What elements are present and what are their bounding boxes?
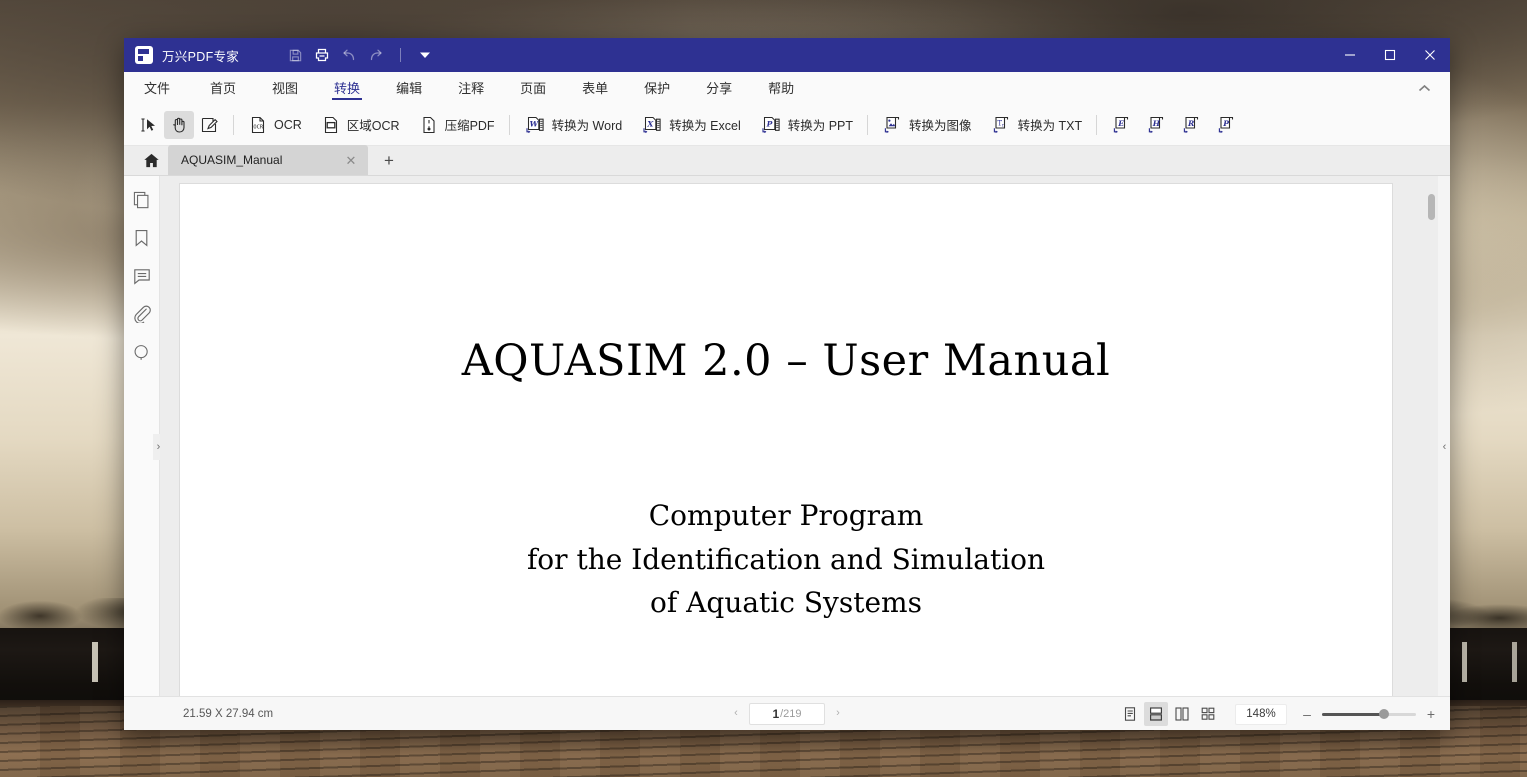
view-mode-two-page[interactable] <box>1170 702 1194 726</box>
next-page-button[interactable]: › <box>829 704 847 724</box>
sidebar-item-attachments[interactable] <box>129 302 155 326</box>
new-tab-button[interactable]: + <box>376 145 402 175</box>
zoom-in-button[interactable]: + <box>1422 704 1440 724</box>
menu-item-page[interactable]: 页面 <box>502 72 564 103</box>
convert-to-excel-button[interactable]: X 转换为 Excel <box>636 111 746 139</box>
compress-pdf-icon <box>419 115 439 135</box>
svg-text:W: W <box>529 119 539 128</box>
minimize-icon[interactable] <box>1330 38 1370 72</box>
hand-icon <box>169 115 189 135</box>
svg-text:H: H <box>1152 119 1161 128</box>
ocr-label: OCR <box>274 118 302 132</box>
pages-convert-icon: P <box>1216 115 1237 135</box>
pdf-application-window: 万兴PDF专家 <box>124 38 1450 730</box>
undo-button[interactable] <box>337 43 361 67</box>
menu-item-help[interactable]: 帮助 <box>750 72 812 103</box>
convert-to-epub-button[interactable]: E <box>1106 111 1137 139</box>
view-mode-continuous[interactable] <box>1144 702 1168 726</box>
zoom-slider[interactable] <box>1322 704 1416 724</box>
title-bar: 万兴PDF专家 <box>124 38 1450 72</box>
sidebar-item-bookmarks[interactable] <box>129 226 155 250</box>
quick-access-more-button[interactable] <box>413 43 437 67</box>
subtitle-line-1: Computer Program <box>527 494 1045 538</box>
zoom-level-value[interactable]: 148% <box>1235 704 1287 725</box>
app-title: 万兴PDF专家 <box>162 46 239 65</box>
view-mode-single-page[interactable] <box>1118 702 1142 726</box>
toolbar-divider-4 <box>1096 115 1097 135</box>
ppt-convert-icon: P <box>760 115 782 135</box>
ocr-document-icon: OCR <box>248 115 268 135</box>
hand-tool[interactable] <box>164 111 194 139</box>
excel-convert-icon: X <box>641 115 663 135</box>
svg-text:P: P <box>1222 119 1229 128</box>
sidebar-item-stamps[interactable] <box>129 340 155 364</box>
rtf-convert-icon: R <box>1181 115 1202 135</box>
document-tab-label: AQUASIM_Manual <box>181 153 326 167</box>
menu-item-edit[interactable]: 编辑 <box>378 72 440 103</box>
convert-to-ppt-button[interactable]: P 转换为 PPT <box>755 111 858 139</box>
subtitle-line-2: for the Identification and Simulation <box>527 538 1045 582</box>
view-controls: 148% – + <box>1118 697 1440 730</box>
text-cursor-arrow-icon <box>139 115 159 135</box>
previous-page-button[interactable]: ‹ <box>727 704 745 724</box>
quick-access-toolbar <box>283 43 437 67</box>
total-pages-label: /219 <box>780 708 801 720</box>
convert-to-html-button[interactable]: H <box>1141 111 1172 139</box>
window-controls <box>1330 38 1450 72</box>
document-title: AQUASIM 2.0 – User Manual <box>462 336 1111 386</box>
convert-to-word-button[interactable]: W 转换为 Word <box>519 111 628 139</box>
page-size-label: 21.59 X 27.94 cm <box>183 708 273 720</box>
document-tab[interactable]: AQUASIM_Manual ✕ <box>168 145 368 175</box>
svg-text:P: P <box>765 119 772 128</box>
main-body: › AQUASIM 2.0 – User Manual Computer Pro… <box>124 176 1450 696</box>
tab-strip: AQUASIM_Manual ✕ + <box>124 146 1450 176</box>
menu-item-share[interactable]: 分享 <box>688 72 750 103</box>
zoom-out-button[interactable]: – <box>1298 704 1316 724</box>
menu-bar: 文件 首页 视图 转换 编辑 注释 页面 表单 保护 分享 帮助 <box>124 72 1450 104</box>
maximize-icon[interactable] <box>1370 38 1410 72</box>
menu-item-file[interactable]: 文件 <box>124 72 192 103</box>
menu-item-comment[interactable]: 注释 <box>440 72 502 103</box>
document-viewer[interactable]: AQUASIM 2.0 – User Manual Computer Progr… <box>160 176 1438 696</box>
left-sidebar: › <box>124 176 160 696</box>
print-button[interactable] <box>310 43 334 67</box>
svg-text:X: X <box>647 119 655 128</box>
svg-text:E: E <box>1117 119 1124 128</box>
area-ocr-label: 区域OCR <box>347 115 400 134</box>
close-icon[interactable]: ✕ <box>342 151 360 169</box>
select-tool[interactable] <box>134 111 164 139</box>
document-subtitle: Computer Program for the Identification … <box>527 494 1045 625</box>
compress-pdf-button[interactable]: 压缩PDF <box>414 111 500 139</box>
convert-to-rtf-button[interactable]: R <box>1176 111 1207 139</box>
svg-text:R: R <box>1187 119 1194 128</box>
chevron-left-icon[interactable]: ‹ <box>1438 434 1450 460</box>
convert-to-txt-label: 转换为 TXT <box>1018 115 1083 134</box>
close-icon[interactable] <box>1410 38 1450 72</box>
html-convert-icon: H <box>1146 115 1167 135</box>
menu-item-protect[interactable]: 保护 <box>626 72 688 103</box>
menu-item-view[interactable]: 视图 <box>254 72 316 103</box>
zoom-slider-knob[interactable] <box>1379 709 1389 719</box>
toolbar-divider-3 <box>867 115 868 135</box>
convert-to-word-label: 转换为 Word <box>552 115 623 134</box>
menu-item-convert[interactable]: 转换 <box>316 72 378 103</box>
txt-convert-icon: T r <box>991 115 1012 135</box>
convert-to-image-label: 转换为图像 <box>909 115 972 134</box>
convert-to-pages-button[interactable]: P <box>1211 111 1242 139</box>
area-ocr-icon <box>321 115 341 135</box>
page-number-input[interactable]: 1 /219 <box>749 703 825 725</box>
scrollbar-thumb[interactable] <box>1428 194 1435 220</box>
area-ocr-button[interactable]: 区域OCR <box>316 111 405 139</box>
svg-text:OCR: OCR <box>253 124 263 130</box>
subtitle-line-3: of Aquatic Systems <box>527 581 1045 625</box>
status-bar: 21.59 X 27.94 cm ‹ 1 /219 › <box>124 696 1450 730</box>
sidebar-item-thumbnails[interactable] <box>129 188 155 212</box>
pencil-page-icon <box>199 115 219 135</box>
menu-item-home[interactable]: 首页 <box>192 72 254 103</box>
convert-to-image-button[interactable]: 转换为图像 <box>877 111 977 139</box>
convert-to-ppt-label: 转换为 PPT <box>788 115 853 134</box>
edit-tool[interactable] <box>194 111 224 139</box>
convert-to-excel-label: 转换为 Excel <box>669 115 741 134</box>
ribbon-toolbar: OCR OCR 区域OCR <box>124 104 1450 146</box>
right-panel-rail: ‹ <box>1438 176 1450 696</box>
chevron-up-icon[interactable] <box>1410 72 1438 104</box>
word-convert-icon: W <box>524 115 546 135</box>
zoom-slider-fill <box>1322 713 1383 716</box>
save-button[interactable] <box>283 43 307 67</box>
redo-button[interactable] <box>364 43 388 67</box>
image-convert-icon <box>882 115 903 135</box>
current-page-value: 1 <box>772 707 779 721</box>
pdf-page: AQUASIM 2.0 – User Manual Computer Progr… <box>180 184 1392 696</box>
quick-access-divider <box>400 48 401 62</box>
compress-pdf-label: 压缩PDF <box>445 115 495 134</box>
toolbar-divider-2 <box>509 115 510 135</box>
wondershare-pdf-logo-icon <box>135 46 153 64</box>
sidebar-item-comments[interactable] <box>129 264 155 288</box>
convert-to-txt-button[interactable]: T r 转换为 TXT <box>986 111 1088 139</box>
epub-convert-icon: E <box>1111 115 1132 135</box>
menu-item-form[interactable]: 表单 <box>564 72 626 103</box>
page-navigation: ‹ 1 /219 › <box>727 703 847 725</box>
ocr-button[interactable]: OCR OCR <box>243 111 307 139</box>
vertical-scrollbar[interactable] <box>1424 176 1438 696</box>
toolbar-divider-1 <box>233 115 234 135</box>
home-icon[interactable] <box>134 145 168 175</box>
view-mode-grid[interactable] <box>1196 702 1220 726</box>
